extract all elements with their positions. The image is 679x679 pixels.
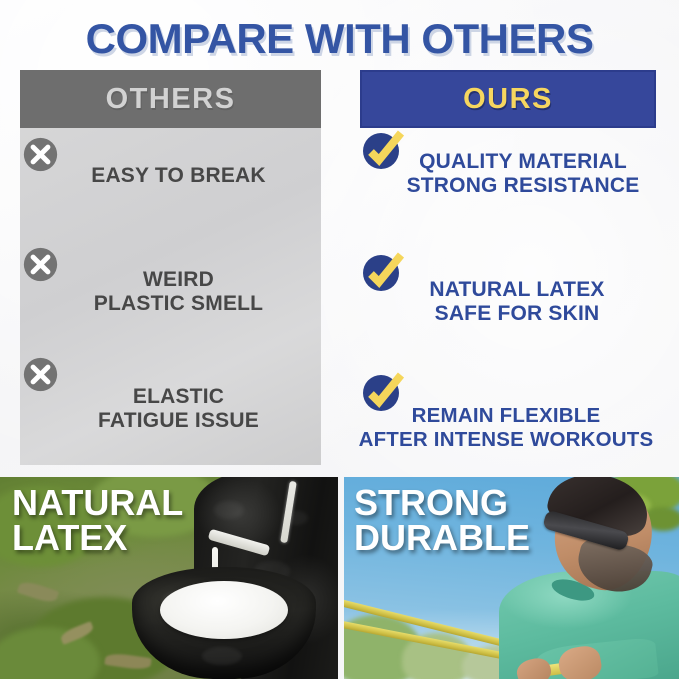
column-body-others: EASY TO BREAK WEIRD PLASTIC SMELL <box>20 128 321 465</box>
list-item-label: EASY TO BREAK <box>46 164 311 188</box>
list-item-label: ELASTIC FATIGUE ISSUE <box>46 385 311 434</box>
column-others: OTHERS EASY TO BREAK <box>20 70 321 465</box>
list-item-label: QUALITY MATERIAL STRONG RESISTANCE <box>390 150 656 199</box>
page-title: COMPARE WITH OTHERS <box>0 18 679 60</box>
photo-strong-durable: STRONG DURABLE <box>344 477 679 679</box>
photo-caption-strong-durable: STRONG DURABLE <box>354 485 530 556</box>
comparison-infographic: COMPARE WITH OTHERS OTHERS EASY TO BREAK <box>0 0 679 679</box>
list-item: ELASTIC FATIGUE ISSUE <box>20 350 321 465</box>
list-item: NATURAL LATEX SAFE FOR SKIN <box>360 240 656 352</box>
photo-caption-natural-latex: NATURAL LATEX <box>12 485 183 556</box>
column-header-ours: OURS <box>360 70 656 128</box>
latex-liquid <box>160 581 288 639</box>
list-item: REMAIN FLEXIBLE AFTER INTENSE WORKOUTS <box>360 352 656 465</box>
photo-natural-latex: NATURAL LATEX <box>0 477 338 679</box>
photo-strip: NATURAL LATEX <box>0 477 679 679</box>
list-item: EASY TO BREAK <box>20 130 321 240</box>
comparison-grid: OTHERS EASY TO BREAK <box>0 70 679 470</box>
list-item-label: REMAIN FLEXIBLE AFTER INTENSE WORKOUTS <box>356 404 656 452</box>
list-item: WEIRD PLASTIC SMELL <box>20 240 321 350</box>
list-item-label: NATURAL LATEX SAFE FOR SKIN <box>378 278 656 327</box>
list-item-label: WEIRD PLASTIC SMELL <box>46 268 311 317</box>
column-ours: OURS QUALITY MATERIAL STRONG RESISTANCE <box>360 70 656 465</box>
list-item: QUALITY MATERIAL STRONG RESISTANCE <box>360 128 656 238</box>
column-body-ours: QUALITY MATERIAL STRONG RESISTANCE NATUR… <box>360 128 656 465</box>
column-header-others: OTHERS <box>20 70 321 128</box>
